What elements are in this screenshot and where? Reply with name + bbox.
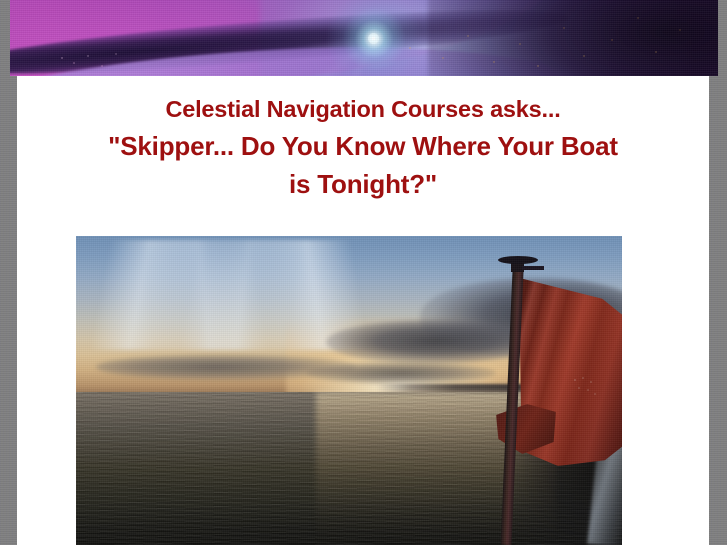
celestial-banner [10,0,718,76]
headline-line-1: Celestial Navigation Courses asks... [17,90,709,128]
headline-line-2: "Skipper... Do You Know Where Your Boat [17,128,709,166]
gold-star-speckles [388,0,718,76]
page-title: Celestial Navigation Courses asks... "Sk… [17,90,709,203]
photo-flag-highlights [571,376,601,398]
photo-dark-cloud-low [306,362,496,384]
photo-masthead-arm [522,266,544,270]
page-root: Celestial Navigation Courses asks... "Sk… [0,0,727,545]
photo-masthead-fitting [498,256,538,264]
star-icon [368,33,379,44]
pink-sparkle-dots [50,44,230,74]
headline-line-3: is Tonight?" [17,166,709,204]
sunset-sea-flag-photo [76,236,622,545]
photo-dark-cloud-mid [326,320,536,364]
